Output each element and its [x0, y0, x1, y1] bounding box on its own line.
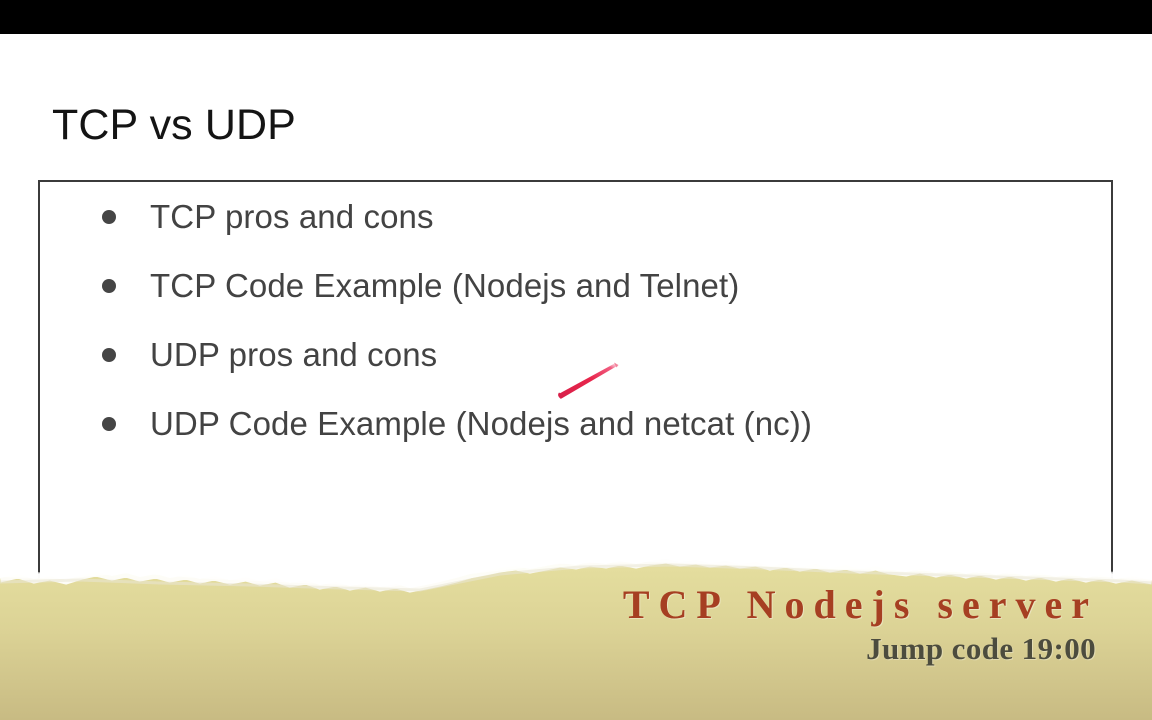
video-player-frame: TCP vs UDP TCP pros and cons TCP Code Ex… [0, 0, 1152, 720]
list-item: TCP pros and cons [80, 182, 1090, 251]
list-item: TCP Code Example (Nodejs and Telnet) [80, 251, 1090, 320]
bullet-marker-icon [102, 279, 116, 293]
banner-subtitle: Jump code 19:00 [0, 631, 1096, 667]
list-item: UDP pros and cons [80, 320, 1090, 389]
letterbox-bar-top [0, 0, 1152, 34]
banner-title: TCP Nodejs server [0, 582, 1098, 628]
lower-third-banner: TCP Nodejs server Jump code 19:00 [0, 552, 1152, 720]
bullet-marker-icon [102, 348, 116, 362]
page-title: TCP vs UDP [52, 100, 296, 150]
bullet-marker-icon [102, 210, 116, 224]
bullet-marker-icon [102, 417, 116, 431]
list-item: UDP Code Example (Nodejs and netcat (nc)… [80, 389, 1090, 458]
list-item-label: TCP pros and cons [150, 198, 434, 236]
slide-content-box: TCP pros and cons TCP Code Example (Node… [38, 180, 1113, 610]
list-item-label: UDP Code Example (Nodejs and netcat (nc)… [150, 405, 812, 443]
list-item-label: UDP pros and cons [150, 336, 437, 374]
bullet-list: TCP pros and cons TCP Code Example (Node… [80, 182, 1090, 458]
list-item-label: TCP Code Example (Nodejs and Telnet) [150, 267, 739, 305]
